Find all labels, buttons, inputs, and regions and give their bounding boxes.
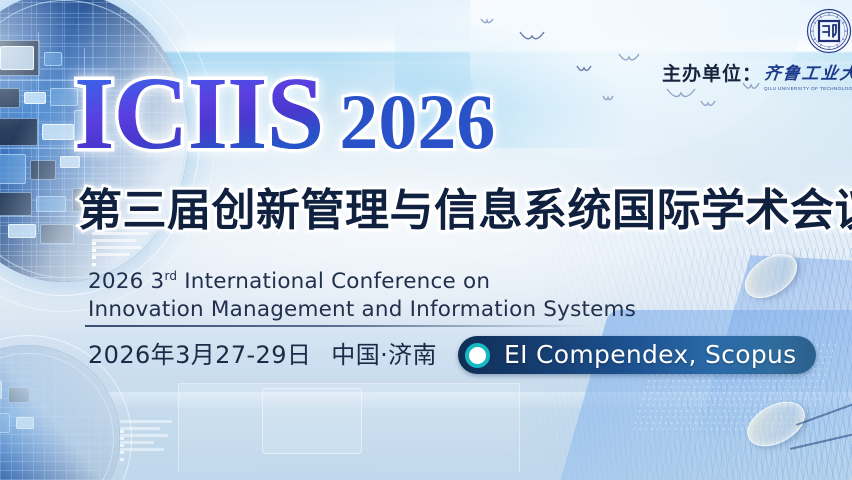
seagull-icon: [602, 95, 614, 102]
chinese-title-outline: 第三届创新管理与信息系统国际学术会议: [78, 186, 852, 235]
faint-code-text-1: ▪▪▪▪▪▪▪▪▪▪▪▪▪▪▪▪ ▪▪▪▪▪▪▪▪▪▪▪: [30, 22, 108, 27]
date-location-line: 2026年3月27-29日中国·济南: [88, 335, 437, 370]
seagull-icon: [519, 31, 545, 43]
english-subtitle: 2026 3rd International Conference on Inn…: [88, 262, 636, 324]
holo-bar-list-bottom: [120, 420, 180, 455]
headline-group: ICIIS 2026 2026: [74, 62, 495, 166]
sponsor-label: 主办单位：: [662, 59, 762, 86]
acronym-text: ICIIS: [74, 62, 323, 166]
year-outline: 2026: [339, 83, 495, 161]
faint-code-text-2: ▪▪▪▪▪▪▪▪▪▪ ▪▪▪▪▪▪▪▪: [36, 29, 89, 34]
university-seal-icon: [806, 8, 852, 54]
teal-ring-icon: [465, 343, 490, 368]
seagull-icon: [576, 65, 592, 73]
seagull-icon: [480, 18, 494, 25]
faint-code-text-4: ▪▪▪▪▪▪▪▪▪▪▪▪▪▪: [88, 41, 127, 46]
en-line1-pre: 2026 3: [88, 269, 164, 294]
en-ordinal-suffix: rd: [164, 269, 177, 283]
university-name-en: QILU UNIVERSITY OF TECHNOLOGY SHANDO: [764, 86, 852, 91]
horizontal-divider: [85, 325, 590, 327]
en-line1-post: International Conference on: [177, 269, 490, 294]
seagull-icon: [618, 53, 640, 63]
faint-code-text-5: ▪▪▪▪▪ ▪▪▪▪▪▪▪ ▪▪▪▪▪▪: [84, 48, 140, 53]
sponsor-group: 主办单位： 齐鲁工业大学(山东 QILU UNIVERSITY OF TECHN…: [662, 56, 852, 88]
ghost-panel-small: [262, 388, 362, 454]
faint-code-text-3: ▪▪▪▪▪▪ ▪▪▪▪▪▪▪▪ ▪▪▪▪: [84, 34, 140, 39]
seagull-icon: [700, 100, 716, 108]
bottom-light-strip: [0, 392, 852, 408]
disc-connector-line: [790, 430, 852, 449]
chinese-title-group: 第三届创新管理与信息系统国际学术会议 第三届创新管理与信息系统国际学术会议: [78, 186, 852, 235]
conference-date: 2026年3月27-29日: [88, 341, 311, 369]
university-name-cn: 齐鲁工业大学(山东: [763, 59, 852, 84]
indexing-text: EI Compendex, Scopus: [504, 340, 796, 369]
lens-disc-graphic: [737, 245, 805, 307]
university-name-block: 齐鲁工业大学(山东 QILU UNIVERSITY OF TECHNOLOGY …: [764, 59, 852, 91]
university-name-en-main: QILU UNIVERSITY OF TECHNOLOGY: [764, 86, 852, 91]
seagull-icon: [666, 88, 696, 101]
english-subtitle-line-1: 2026 3rd International Conference on: [88, 262, 636, 296]
holo-bar-list-top: [92, 232, 152, 260]
conference-banner: ▪▪▪▪▪▪▪▪▪▪▪▪▪▪▪▪ ▪▪▪▪▪▪▪▪▪▪▪ ▪▪▪▪▪▪▪▪▪▪ …: [0, 0, 852, 480]
english-subtitle-line-2: Innovation Management and Information Sy…: [88, 296, 636, 324]
conference-location: 中国·济南: [331, 341, 437, 369]
